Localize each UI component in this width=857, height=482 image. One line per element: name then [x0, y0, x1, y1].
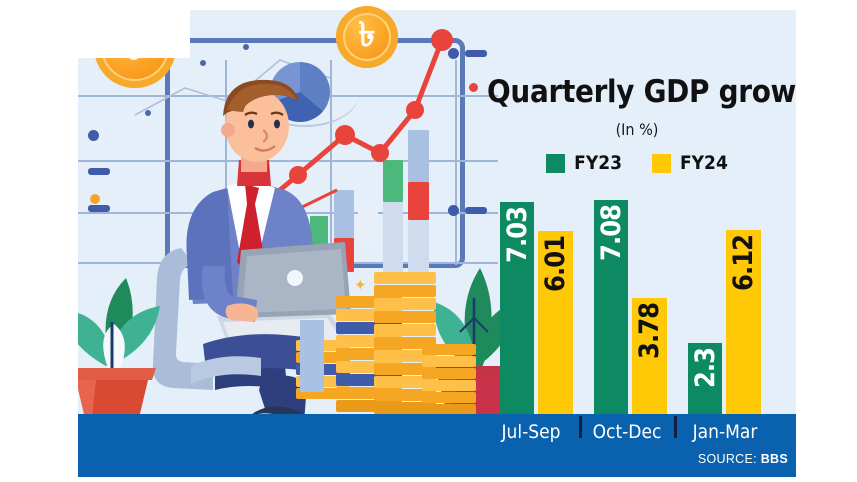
legend-swatch-fy24 — [652, 154, 671, 173]
bar-jul-sep-fy23[interactable]: 7.03 — [500, 202, 534, 414]
source-name: BBS — [761, 452, 788, 466]
bar-oct-dec-fy24[interactable]: 3.78 — [632, 298, 667, 414]
source-prefix: SOURCE: — [698, 452, 757, 466]
axis-label-jan-mar: Jan-Mar — [678, 421, 772, 443]
bar-value-label: 7.08 — [598, 205, 625, 261]
taka-symbol: ৳ — [359, 9, 376, 66]
legend-label-fy24: FY24 — [680, 152, 728, 174]
right-margin — [796, 0, 857, 482]
bar-value-label: 6.12 — [730, 235, 757, 291]
bar-jan-mar-fy24[interactable]: 6.12 — [726, 230, 761, 414]
decorative-block — [300, 320, 324, 392]
chart-subtitle: (In %) — [487, 120, 787, 139]
axis-label-jul-sep: Jul-Sep — [485, 421, 577, 443]
bar-value-label: 7.03 — [504, 207, 531, 263]
title-accent-dot — [469, 83, 478, 92]
axis-tick-separator — [674, 416, 677, 438]
bar-value-label: 2.3 — [692, 348, 719, 388]
page-title: Quarterly GDP growth — [487, 74, 787, 110]
bar-oct-dec-fy23[interactable]: 7.08 — [594, 200, 628, 414]
source-attribution: SOURCE: BBS — [698, 452, 788, 466]
legend-fy24[interactable]: FY24 — [652, 152, 728, 174]
left-margin — [0, 0, 78, 482]
bar-value-label: 3.78 — [636, 303, 663, 359]
bottom-margin — [0, 477, 857, 482]
bar-jul-sep-fy24[interactable]: 6.01 — [538, 231, 573, 414]
top-margin — [78, 0, 190, 58]
axis-label-oct-dec: Oct-Dec — [582, 421, 672, 443]
legend-swatch-fy23 — [546, 154, 565, 173]
bar-value-label: 6.01 — [542, 236, 569, 292]
legend-fy23[interactable]: FY23 — [546, 152, 622, 174]
legend-label-fy23: FY23 — [574, 152, 622, 174]
chart-legend: FY23 FY24 — [487, 152, 787, 174]
sparkle-icon: ✦ — [354, 276, 367, 294]
bar-jan-mar-fy23[interactable]: 2.3 — [688, 343, 722, 414]
infographic-canvas: ✦ ৳ ৳ Quarterly GDP growth (In %) FY23 F… — [0, 0, 857, 482]
taka-coin-small: ৳ — [336, 6, 398, 68]
